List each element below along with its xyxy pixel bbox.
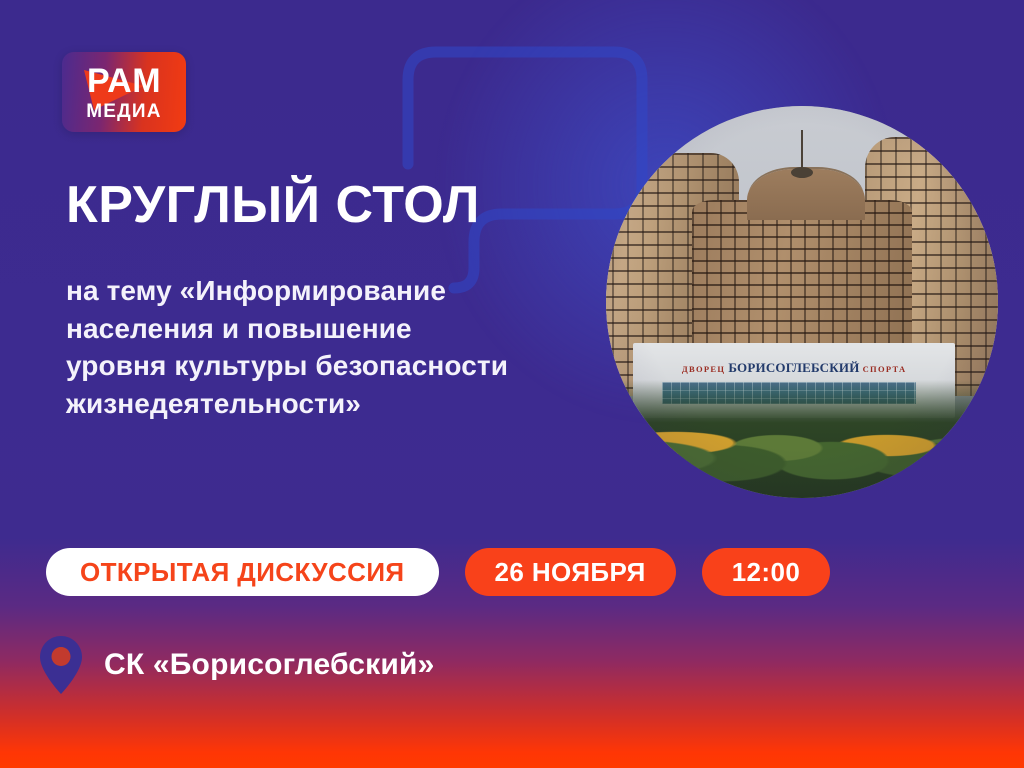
- info-badges: ОТКРЫТАЯ ДИСКУССИЯ 26 НОЯБРЯ 12:00: [46, 548, 830, 596]
- venue-photo: ДВОРЕЦ БОРИСОГЛЕБСКИЙ СПОРТА: [606, 106, 998, 498]
- poster-subheadline: на тему «Информирование населения и повы…: [66, 272, 518, 422]
- brand-logo-main: РАМ: [62, 64, 186, 98]
- event-poster: РАМ МЕДИА КРУГЛЫЙ СТОЛ на тему «Информир…: [0, 0, 1024, 768]
- poster-headline: КРУГЛЫЙ СТОЛ: [66, 178, 566, 232]
- brand-logo[interactable]: РАМ МЕДИА: [62, 52, 186, 132]
- badge-open-discussion[interactable]: ОТКРЫТАЯ ДИСКУССИЯ: [46, 548, 439, 596]
- badge-date[interactable]: 26 НОЯБРЯ: [465, 548, 676, 596]
- brand-logo-sub: МЕДИА: [62, 102, 186, 121]
- location-pin-icon: [38, 634, 84, 696]
- venue-row: СК «Борисоглебский»: [38, 634, 435, 696]
- photo-vignette: [606, 106, 998, 498]
- venue-name: СК «Борисоглебский»: [104, 650, 435, 680]
- badge-time[interactable]: 12:00: [702, 548, 831, 596]
